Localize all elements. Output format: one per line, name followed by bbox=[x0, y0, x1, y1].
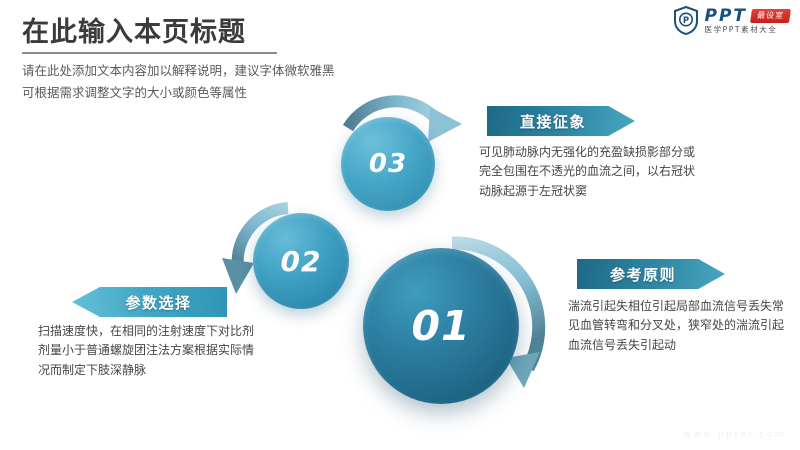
site-watermark: www.ppter.com bbox=[684, 430, 786, 440]
banner-params-label-text: 参数选择 bbox=[125, 292, 191, 313]
step-circle-03-label: 03 bbox=[369, 149, 407, 179]
slide-canvas: 在此输入本页标题 请在此处添加文本内容加以解释说明，建议字体微软雅黑 可根据需求… bbox=[0, 0, 800, 450]
step-circle-03[interactable]: 03 bbox=[341, 117, 435, 211]
banner-reference-body: 湍流引起失相位引起局部血流信号丢失常见血管转弯和分叉处，狭窄处的湍流引起血流信号… bbox=[568, 297, 792, 355]
step-circle-02-label: 02 bbox=[281, 245, 322, 278]
banner-direct-body: 可见肺动脉内无强化的充盈缺损影部分或完全包围在不透光的血流之间，以右冠状动脉起源… bbox=[479, 143, 695, 201]
banner-reference-label[interactable]: 参考原则 bbox=[577, 259, 725, 289]
banner-params-label[interactable]: 参数选择 bbox=[72, 287, 227, 317]
step-circle-01[interactable]: 01 bbox=[363, 248, 519, 404]
banner-reference-label-text: 参考原则 bbox=[610, 264, 676, 285]
banner-direct-label[interactable]: 直接征象 bbox=[487, 106, 635, 136]
step-circle-01-label: 01 bbox=[411, 302, 470, 350]
banner-direct-label-text: 直接征象 bbox=[520, 111, 586, 132]
step-circle-02[interactable]: 02 bbox=[253, 213, 349, 309]
banner-params-body: 扫描速度快，在相同的注射速度下对比剂剂量小于普通螺旋团注法方案根据实际情况而制定… bbox=[38, 322, 260, 380]
